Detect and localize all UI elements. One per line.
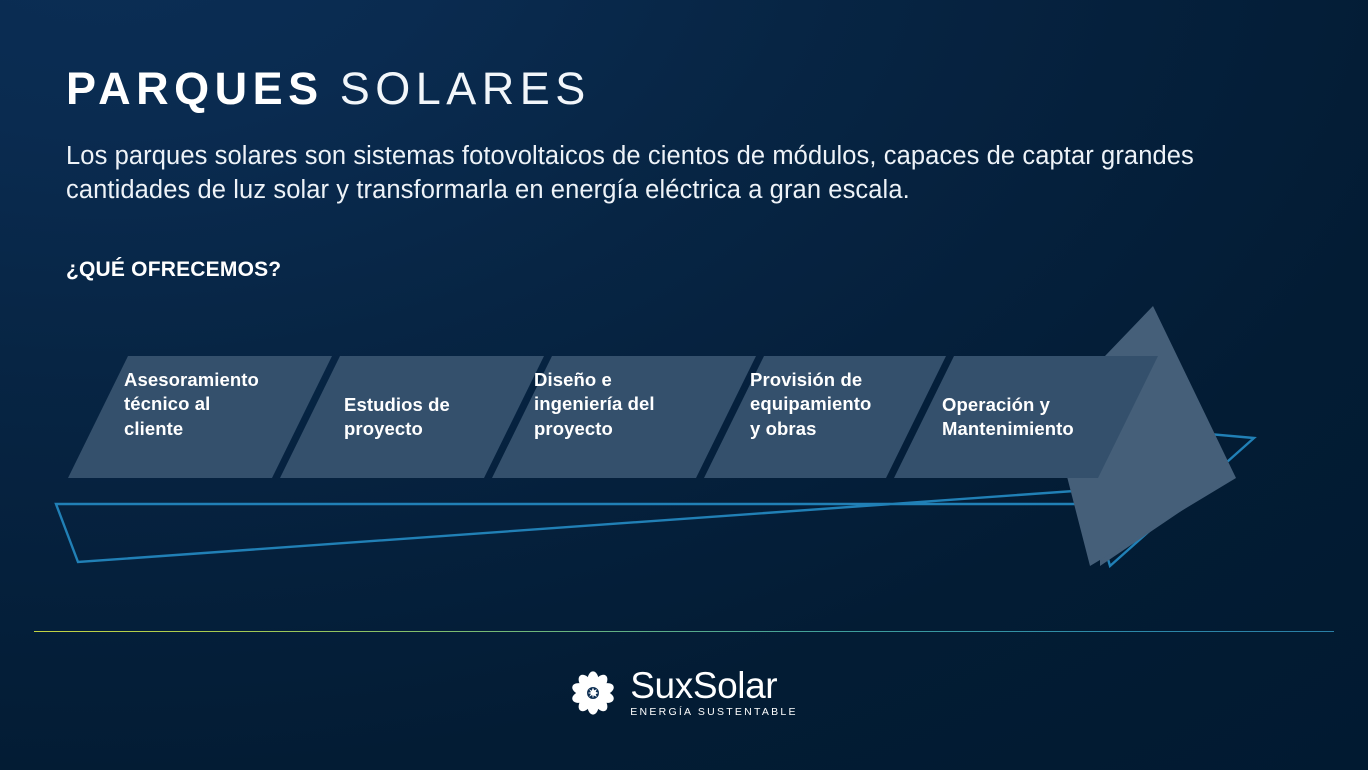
process-segment-5-label: Operación y Mantenimiento [942,393,1074,442]
page-title-bold: PARQUES [66,66,324,111]
process-arrow-diagram: Asesoramiento técnico al cliente Estudio… [0,288,1368,588]
process-segment-4-label: Provisión de equipamiento y obras [750,368,871,441]
page-title: PARQUES SOLARES [66,66,591,111]
slide-subtitle: Los parques solares son sistemas fotovol… [66,140,1311,208]
logo-text-block: SuxSolar ENERGÍA SUSTENTABLE [630,668,797,718]
logo-name: SuxSolar [630,668,797,703]
section-heading: ¿QUÉ OFRECEMOS? [66,258,281,282]
process-segment-2-label: Estudios de proyecto [344,393,450,442]
rosette-icon [570,670,616,716]
process-segment-1-label: Asesoramiento técnico al cliente [124,368,259,441]
logo-tagline: ENERGÍA SUSTENTABLE [630,706,797,718]
process-segment-3-label: Diseño e ingeniería del proyecto [534,368,655,441]
footer-divider [34,631,1334,632]
slide: PARQUES SOLARES Los parques solares son … [0,0,1368,770]
page-title-light: SOLARES [340,66,591,111]
brand-logo: SuxSolar ENERGÍA SUSTENTABLE [0,668,1368,718]
